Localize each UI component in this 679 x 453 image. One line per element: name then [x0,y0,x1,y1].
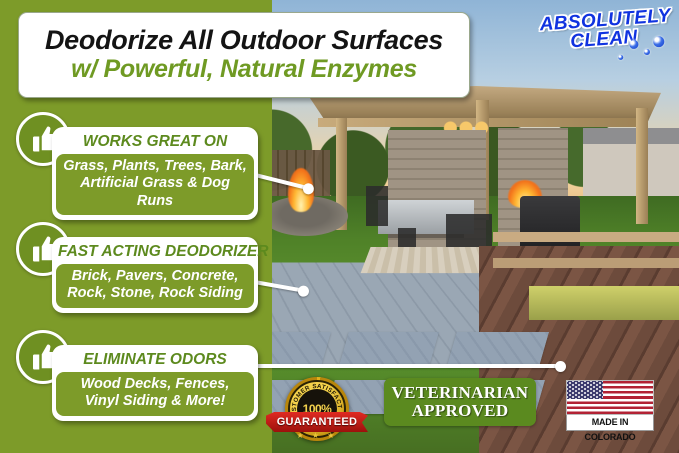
bubble-icon [629,40,639,50]
svg-text:CUSTOMER SATISFACTION: CUSTOMER SATISFACTION [290,382,343,411]
callout-heading: ELIMINATE ODORS [56,348,254,372]
callout-heading: WORKS GREAT ON [56,130,254,154]
satisfaction-guarantee-seal: 100% CUSTOMER SATISFACTION GUARANTEED ★ … [262,376,372,442]
brand-logo: ABSOLUTELY CLEAN [539,8,669,73]
feature-callout-2: FAST ACTING DEODORIZER Brick, Pavers, Co… [52,237,258,313]
pointer-dot-3 [555,361,566,372]
pavilion-post-right [636,108,648,224]
headline-banner: Deodorize All Outdoor Surfaces w/ Powerf… [18,12,470,98]
outdoor-rug [361,247,492,273]
callout-detail: Grass, Plants, Trees, Bark, Artificial G… [56,154,254,214]
veterinarian-approved-badge: VETERINARIAN APPROVED [384,378,536,426]
callout-detail-line-2: Rock, Stone, Rock Siding [61,285,249,302]
callout-detail: Brick, Pavers, Concrete, Rock, Stone, Ro… [56,264,254,307]
vet-line-2: APPROVED [412,402,509,420]
callout-detail-line-1: Wood Decks, Fences, [61,376,249,393]
callout-detail-line-1: Brick, Pavers, Concrete, [61,268,249,285]
vet-line-1: VETERINARIAN [392,384,529,402]
pointer-line-3 [243,364,561,368]
feature-callout-3: ELIMINATE ODORS Wood Decks, Fences, Viny… [52,345,258,421]
seal-stars: ★ ★ ★ [262,431,372,440]
patio-chair-left [366,186,388,226]
headline-line-2: w/ Powerful, Natural Enzymes [71,56,417,84]
flag-canton [567,381,603,399]
product-advertisement: Deodorize All Outdoor Surfaces w/ Powerf… [0,0,679,453]
seal-ribbon: GUARANTEED [266,412,368,432]
headline-line-1: Deodorize All Outdoor Surfaces [45,26,443,54]
callout-detail-line-1: Grass, Plants, Trees, Bark, [61,158,249,175]
deck-railing [493,232,679,286]
deck-bench-cushion [529,286,679,320]
bubble-icon [618,55,623,60]
made-in-colorado-badge: MADE IN COLORADO [566,380,652,430]
bubble-icon [644,49,650,55]
flag-caption: MADE IN COLORADO [566,415,654,431]
bubble-icon [653,36,665,48]
callout-detail: Wood Decks, Fences, Vinyl Siding & More! [56,372,254,415]
callout-detail-line-2: Vinyl Siding & More! [61,393,249,410]
callout-heading: FAST ACTING DEODORIZER [56,240,254,264]
callout-detail-line-2: Artificial Grass & Dog Runs [61,175,249,209]
feature-callout-1: WORKS GREAT ON Grass, Plants, Trees, Bar… [52,127,258,220]
usa-flag-icon [566,380,654,415]
neighbor-house [583,128,679,198]
